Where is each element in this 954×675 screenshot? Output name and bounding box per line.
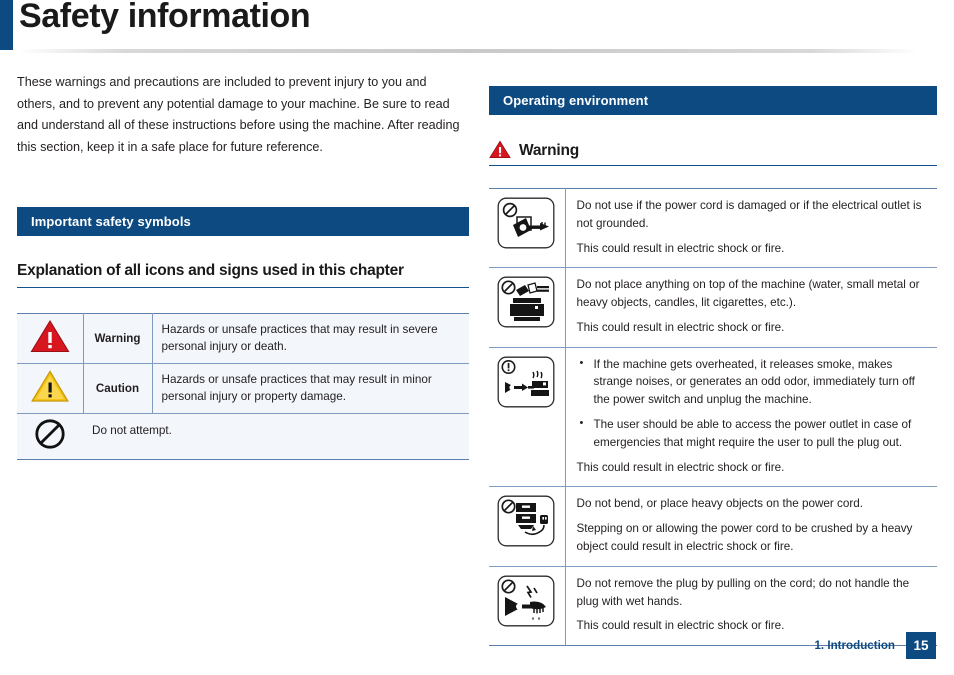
rule-paragraph: Stepping on or allowing the power cord t… <box>577 520 930 556</box>
caution-triangle-yellow-icon <box>30 369 70 403</box>
warning-heading-label: Warning <box>519 143 579 160</box>
title-divider <box>18 49 918 53</box>
table-row: Warning Hazards or unsafe practices that… <box>17 313 469 363</box>
warning-triangle-red-icon <box>30 319 70 353</box>
no-pull-plug-wet-hands-icon-cell <box>489 566 565 645</box>
section-bar-important-safety-symbols: Important safety symbols <box>17 207 469 236</box>
subheading-explanation-of-icons: Explanation of all icons and signs used … <box>17 262 469 288</box>
page-footer: 1. Introduction 15 <box>814 632 936 659</box>
symbol-description-caution: Hazards or unsafe practices that may res… <box>152 363 469 413</box>
no-objects-on-machine-icon-cell <box>489 268 565 347</box>
caution-triangle-yellow-icon-cell <box>17 363 83 413</box>
no-heavy-objects-on-cord-icon <box>497 495 555 547</box>
rule-body: Do not use if the power cord is damaged … <box>565 189 937 268</box>
list-item: If the machine gets overheated, it relea… <box>577 356 930 409</box>
warning-triangle-red-icon-cell <box>17 313 83 363</box>
title-accent-bar <box>0 0 13 50</box>
rule-paragraph: Do not bend, or place heavy objects on t… <box>577 495 930 513</box>
rule-body: Do not bend, or place heavy objects on t… <box>565 487 937 566</box>
rule-paragraph: Do not place anything on top of the mach… <box>577 276 930 312</box>
rule-paragraph: This could result in electric shock or f… <box>577 240 930 258</box>
footer-page-number: 15 <box>906 632 936 659</box>
table-row: Do not place anything on top of the mach… <box>489 268 937 347</box>
left-column: These warnings and precautions are inclu… <box>17 72 469 460</box>
prohibition-circle-icon-cell <box>17 413 83 460</box>
table-row: If the machine gets overheated, it relea… <box>489 347 937 487</box>
warning-triangle-red-icon <box>489 140 511 159</box>
rule-body: Do not place anything on top of the mach… <box>565 268 937 347</box>
table-row: Do not use if the power cord is damaged … <box>489 189 937 268</box>
intro-paragraph: These warnings and precautions are inclu… <box>17 72 465 159</box>
no-heavy-objects-on-cord-icon-cell <box>489 487 565 566</box>
symbol-label-warning: Warning <box>83 313 152 363</box>
overheating-machine-caution-icon <box>497 356 555 408</box>
rule-paragraph: This could result in electric shock or f… <box>577 319 930 337</box>
section-bar-operating-environment: Operating environment <box>489 86 937 115</box>
warning-heading: Warning <box>489 140 937 166</box>
table-row: Do not bend, or place heavy objects on t… <box>489 487 937 566</box>
symbol-description-do-not-attempt: Do not attempt. <box>83 413 469 460</box>
footer-chapter-label: 1. Introduction <box>814 639 906 652</box>
no-damaged-power-cord-icon <box>497 197 555 249</box>
no-pull-plug-wet-hands-icon <box>497 575 555 627</box>
list-item: The user should be able to access the po… <box>577 416 930 452</box>
page-title: Safety information <box>19 0 310 36</box>
overheating-machine-caution-icon-cell <box>489 347 565 487</box>
prohibition-circle-icon <box>33 417 67 451</box>
table-row: Do not attempt. <box>17 413 469 460</box>
no-damaged-power-cord-icon-cell <box>489 189 565 268</box>
symbol-description-warning: Hazards or unsafe practices that may res… <box>152 313 469 363</box>
no-objects-on-machine-icon <box>497 276 555 328</box>
rule-body: If the machine gets overheated, it relea… <box>565 347 937 487</box>
operating-environment-warnings-table: Do not use if the power cord is damaged … <box>489 188 937 646</box>
table-row: Caution Hazards or unsafe practices that… <box>17 363 469 413</box>
rule-paragraph: This could result in electric shock or f… <box>577 459 930 477</box>
safety-symbols-table: Warning Hazards or unsafe practices that… <box>17 313 469 461</box>
symbol-label-caution: Caution <box>83 363 152 413</box>
rule-paragraph: Do not use if the power cord is damaged … <box>577 197 930 233</box>
rule-paragraph: Do not remove the plug by pulling on the… <box>577 575 930 611</box>
right-column: Operating environment Warning <box>489 86 937 646</box>
rule-bullet-list: If the machine gets overheated, it relea… <box>577 356 930 452</box>
